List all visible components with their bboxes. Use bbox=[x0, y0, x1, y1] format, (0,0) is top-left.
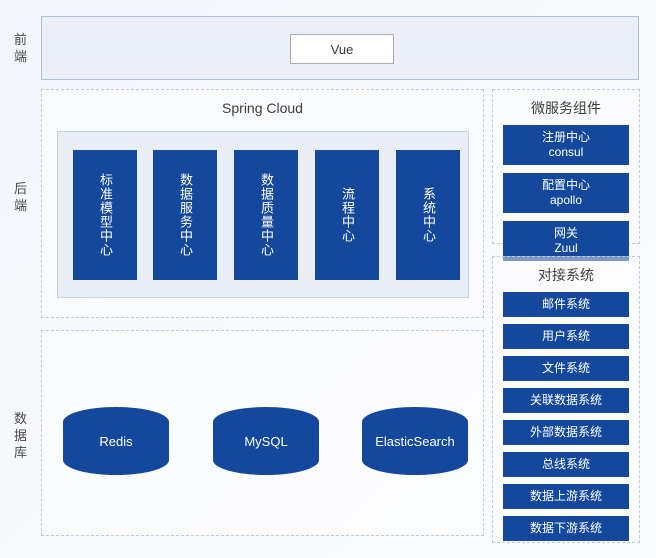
row-label-backend-char-2: 端 bbox=[6, 197, 36, 214]
docking-item-file[interactable]: 文件系统 bbox=[503, 356, 629, 381]
service-center-data-quality[interactable]: 数据质量中心 bbox=[234, 150, 298, 280]
microservice-item-gateway[interactable]: 网关 Zuul bbox=[503, 221, 629, 261]
database-node-elasticsearch[interactable]: ElasticSearch bbox=[362, 407, 468, 475]
docking-item-external-data[interactable]: 外部数据系统 bbox=[503, 420, 629, 445]
row-label-backend-char-1: 后 bbox=[6, 180, 36, 197]
docking-systems-panel: 对接系统 邮件系统 用户系统 文件系统 关联数据系统 外部数据系统 总线系统 数… bbox=[492, 256, 640, 543]
spring-cloud-section: Spring Cloud 标准模型中心 数据服务中心 数据质量中心 流程中心 系… bbox=[41, 89, 484, 318]
database-node-redis[interactable]: Redis bbox=[63, 407, 169, 475]
service-center-label: 数据服务中心 bbox=[176, 173, 194, 257]
docking-item-mail[interactable]: 邮件系统 bbox=[503, 292, 629, 317]
service-center-label: 标准模型中心 bbox=[96, 173, 114, 257]
row-label-database: 数 据 库 bbox=[6, 410, 36, 461]
docking-item-upstream-data[interactable]: 数据上游系统 bbox=[503, 484, 629, 509]
spring-cloud-title: Spring Cloud bbox=[42, 100, 483, 116]
microservice-item-config[interactable]: 配置中心 apollo bbox=[503, 173, 629, 213]
service-center-label: 数据质量中心 bbox=[257, 173, 275, 257]
service-center-standard-model[interactable]: 标准模型中心 bbox=[73, 150, 137, 280]
row-label-database-char-2: 据 bbox=[6, 427, 36, 444]
microservice-panel-title: 微服务组件 bbox=[493, 98, 639, 118]
service-center-process[interactable]: 流程中心 bbox=[315, 150, 379, 280]
row-label-backend: 后 端 bbox=[6, 180, 36, 214]
row-label-frontend-char-1: 前 bbox=[6, 31, 36, 48]
database-section: Redis MySQL ElasticSearch bbox=[41, 330, 484, 536]
microservice-item-sublabel: apollo bbox=[503, 193, 629, 208]
microservice-item-label: 配置中心 bbox=[542, 178, 590, 192]
service-center-label: 系统中心 bbox=[419, 187, 437, 243]
docking-item-downstream-data[interactable]: 数据下游系统 bbox=[503, 516, 629, 541]
service-center-label: 流程中心 bbox=[338, 187, 356, 243]
microservice-item-label: 网关 bbox=[554, 226, 578, 240]
service-center-group: 标准模型中心 数据服务中心 数据质量中心 流程中心 系统中心 bbox=[57, 131, 469, 298]
microservice-item-label: 注册中心 bbox=[542, 130, 590, 144]
docking-item-bus[interactable]: 总线系统 bbox=[503, 452, 629, 477]
microservice-components-panel: 微服务组件 注册中心 consul 配置中心 apollo 网关 Zuul bbox=[492, 89, 640, 244]
vue-node[interactable]: Vue bbox=[290, 34, 394, 64]
microservice-item-registry[interactable]: 注册中心 consul bbox=[503, 125, 629, 165]
docking-panel-title: 对接系统 bbox=[493, 265, 639, 285]
row-label-frontend: 前 端 bbox=[6, 31, 36, 65]
row-label-database-char-1: 数 bbox=[6, 410, 36, 427]
docking-item-user[interactable]: 用户系统 bbox=[503, 324, 629, 349]
frontend-section: Vue bbox=[41, 16, 639, 80]
service-center-system[interactable]: 系统中心 bbox=[396, 150, 460, 280]
database-node-mysql[interactable]: MySQL bbox=[213, 407, 319, 475]
microservice-item-sublabel: consul bbox=[503, 145, 629, 160]
row-label-database-char-3: 库 bbox=[6, 444, 36, 461]
docking-item-related-data[interactable]: 关联数据系统 bbox=[503, 388, 629, 413]
service-center-data-service[interactable]: 数据服务中心 bbox=[153, 150, 217, 280]
microservice-item-sublabel: Zuul bbox=[503, 241, 629, 256]
row-label-frontend-char-2: 端 bbox=[6, 48, 36, 65]
architecture-diagram: 前 端 后 端 数 据 库 Vue Spring Cloud 标准模型中心 数据… bbox=[0, 0, 656, 558]
